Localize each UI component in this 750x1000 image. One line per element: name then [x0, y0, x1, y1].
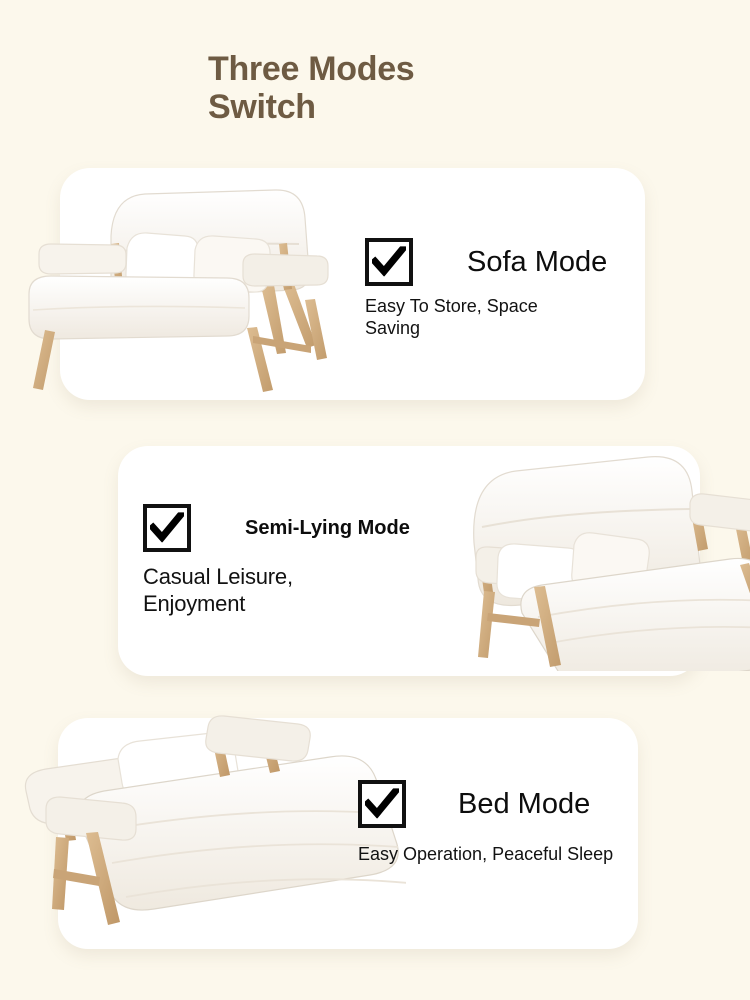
semi-lying-mode-heading-row: Semi-Lying Mode [143, 504, 443, 552]
bed-mode-heading-row: Bed Mode [358, 780, 658, 828]
mode-subtitle: Casual Leisure, Enjoyment [143, 564, 443, 618]
mode-card-bed[interactable]: Bed Mode Easy Operation, Peaceful Sleep [58, 718, 638, 949]
mode-subtitle: Easy To Store, Space Saving [365, 296, 655, 340]
mode-card-semi-lying[interactable]: Semi-Lying Mode Casual Leisure, Enjoymen… [118, 446, 700, 676]
bed-mode-text-block: Bed Mode Easy Operation, Peaceful Sleep [358, 780, 658, 866]
page-title: Three Modes Switch [208, 50, 628, 127]
checkmark-icon[interactable] [358, 780, 406, 828]
sofa-mode-illustration [15, 178, 360, 393]
mode-label: Bed Mode [458, 788, 590, 821]
sofa-mode-heading-row: Sofa Mode [365, 238, 655, 286]
semi-lying-mode-illustration [438, 441, 750, 671]
semi-lying-mode-text-block: Semi-Lying Mode Casual Leisure, Enjoymen… [143, 504, 443, 618]
mode-card-sofa[interactable]: Sofa Mode Easy To Store, Space Saving [60, 168, 645, 400]
mode-label: Sofa Mode [467, 246, 607, 279]
product-feature-page: Three Modes Switch [0, 0, 750, 1000]
bed-mode-illustration [6, 713, 406, 938]
mode-label: Semi-Lying Mode [245, 517, 410, 540]
checkmark-icon[interactable] [143, 504, 191, 552]
checkmark-icon[interactable] [365, 238, 413, 286]
mode-subtitle: Easy Operation, Peaceful Sleep [358, 844, 658, 866]
sofa-mode-text-block: Sofa Mode Easy To Store, Space Saving [365, 238, 655, 340]
